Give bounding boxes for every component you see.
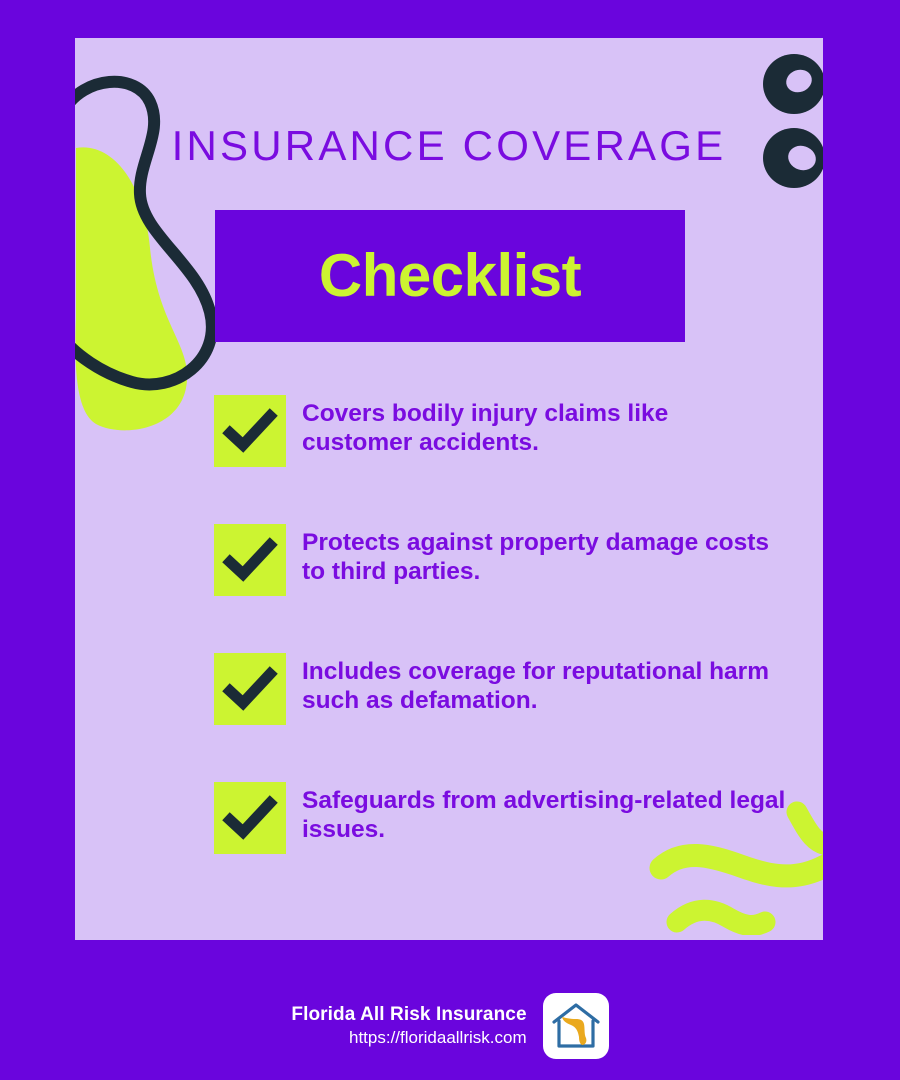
brand-url[interactable]: https://floridaallrisk.com bbox=[291, 1027, 526, 1049]
brand-name: Florida All Risk Insurance bbox=[291, 1003, 526, 1027]
check-icon bbox=[214, 782, 286, 854]
content-card: INSURANCE COVERAGE Checklist Covers bodi… bbox=[75, 38, 823, 940]
check-icon bbox=[214, 653, 286, 725]
checkbox-checked[interactable] bbox=[214, 395, 286, 467]
list-item-label: Safeguards from advertising-related lega… bbox=[302, 782, 794, 845]
list-item-label: Covers bodily injury claims like custome… bbox=[302, 395, 772, 458]
list-item[interactable]: Safeguards from advertising-related lega… bbox=[214, 782, 794, 911]
checklist: Covers bodily injury claims like custome… bbox=[214, 395, 794, 911]
list-item[interactable]: Covers bodily injury claims like custome… bbox=[214, 395, 794, 524]
lime-blob-decoration bbox=[75, 138, 234, 438]
check-icon bbox=[214, 395, 286, 467]
list-item[interactable]: Includes coverage for reputational harm … bbox=[214, 653, 794, 782]
checklist-banner-label: Checklist bbox=[319, 246, 581, 306]
checkbox-checked[interactable] bbox=[214, 782, 286, 854]
poster-canvas: INSURANCE COVERAGE Checklist Covers bodi… bbox=[0, 0, 900, 1080]
rings-decoration bbox=[761, 48, 823, 193]
checklist-banner: Checklist bbox=[215, 210, 685, 342]
list-item-label: Includes coverage for reputational harm … bbox=[302, 653, 794, 716]
checkbox-checked[interactable] bbox=[214, 524, 286, 596]
brand-logo bbox=[543, 993, 609, 1059]
footer-branding: Florida All Risk Insurance https://flori… bbox=[291, 1003, 526, 1050]
checkbox-checked[interactable] bbox=[214, 653, 286, 725]
check-icon bbox=[214, 524, 286, 596]
footer: Florida All Risk Insurance https://flori… bbox=[0, 986, 900, 1066]
list-item[interactable]: Protects against property damage costs t… bbox=[214, 524, 794, 653]
list-item-label: Protects against property damage costs t… bbox=[302, 524, 772, 587]
house-florida-icon bbox=[550, 1000, 602, 1052]
page-title: INSURANCE COVERAGE bbox=[75, 125, 823, 167]
